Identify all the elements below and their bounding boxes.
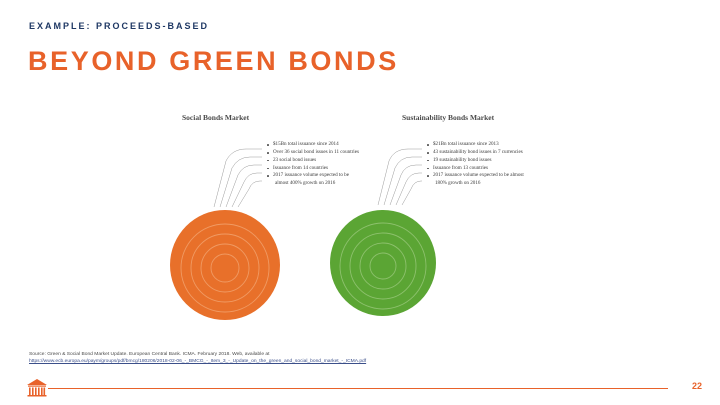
rotunda-logo xyxy=(26,378,48,398)
list-item: 19 sustainability bond issues xyxy=(426,157,552,165)
footer-divider xyxy=(48,388,668,389)
list-item-line1: 2017 issuance volume expected to be almo… xyxy=(433,172,524,178)
source-citation: Source: Green & Social Bond Market Updat… xyxy=(29,352,549,365)
bond-market-diagram xyxy=(0,95,720,345)
page-number: 22 xyxy=(692,381,702,391)
figure-container: Social Bonds Market Sustainability Bonds… xyxy=(0,95,720,345)
slide-eyebrow: EXAMPLE: PROCEEDS-BASED xyxy=(29,21,209,31)
sustainability-bonds-market-title: Sustainability Bonds Market xyxy=(402,113,494,122)
leader-lines-right xyxy=(378,149,422,205)
source-text: Source: Green & Social Bond Market Updat… xyxy=(29,352,270,357)
list-item-line2: 180% growth on 2016 xyxy=(433,180,552,188)
list-item: Issuance from 13 countries xyxy=(426,165,552,173)
social-bonds-circle xyxy=(170,210,280,320)
page-title: BEYOND GREEN BONDS xyxy=(28,46,399,77)
list-item-line2: almost 400% growth on 2016 xyxy=(273,180,384,188)
list-item: Over 36 social bond issues in 11 countri… xyxy=(266,149,384,157)
social-bonds-bullet-list: $15Bn total issuance since 2014 Over 36 … xyxy=(266,141,384,188)
slide: EXAMPLE: PROCEEDS-BASED BEYOND GREEN BON… xyxy=(0,0,720,405)
sustainability-bonds-circle xyxy=(330,210,436,316)
social-bonds-market-title: Social Bonds Market xyxy=(182,113,249,122)
list-item-line1: 2017 issuance volume expected to be xyxy=(273,172,349,178)
leader-lines-left xyxy=(214,149,262,207)
list-item: Issuance from 14 countries xyxy=(266,165,384,173)
list-item: $15Bn total issuance since 2014 xyxy=(266,141,384,149)
list-item: 2017 issuance volume expected to be almo… xyxy=(426,172,552,188)
sustainability-bonds-bullet-list: $21Bn total issuance since 2013 43 susta… xyxy=(426,141,552,188)
list-item: 43 sustainability bond issues in 7 curre… xyxy=(426,149,552,157)
source-link[interactable]: https://www.ecb.europa.eu/paym/groups/pd… xyxy=(29,359,549,366)
list-item: 2017 issuance volume expected to be almo… xyxy=(266,172,384,188)
list-item: 23 social bond issues xyxy=(266,157,384,165)
list-item: $21Bn total issuance since 2013 xyxy=(426,141,552,149)
